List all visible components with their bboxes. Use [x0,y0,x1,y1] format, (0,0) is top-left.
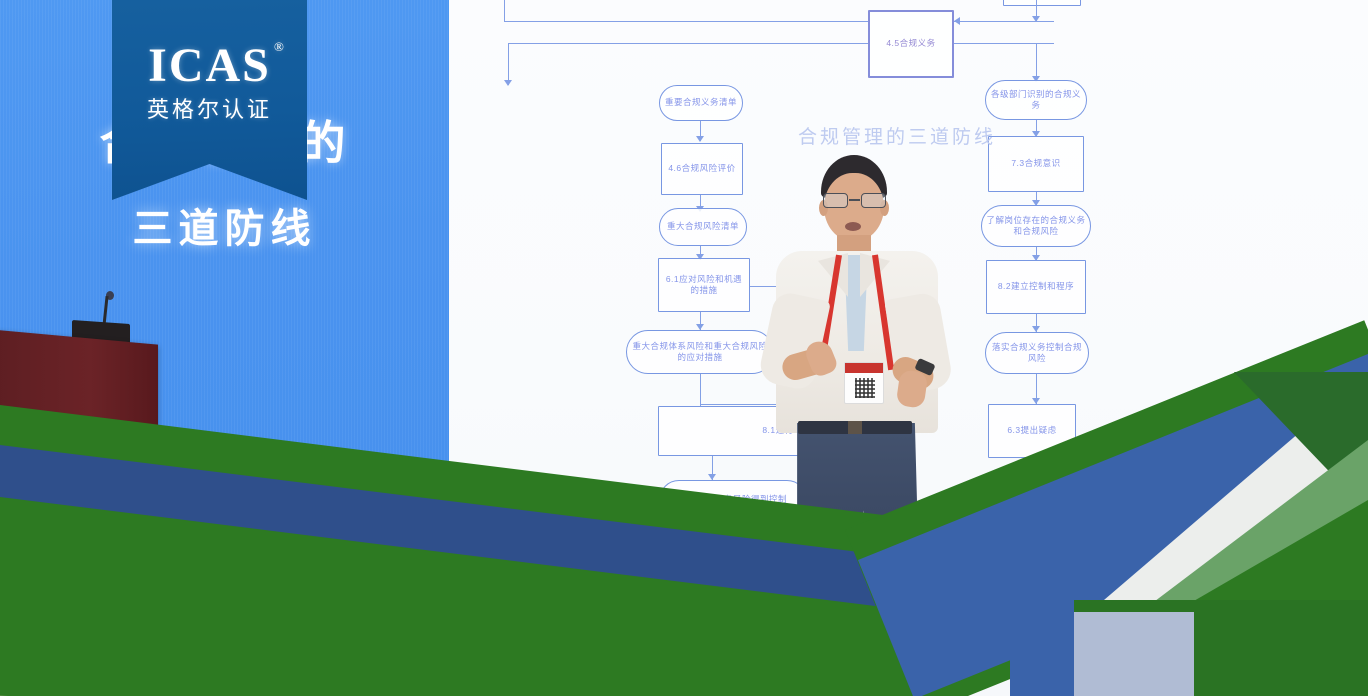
flow-node-label: 6.3提出疑虑 [1007,425,1056,436]
flow-arrowhead [504,80,512,86]
belt-buckle [848,421,862,434]
qr-code-icon [855,378,875,398]
flow-line [954,43,1054,44]
flow-node-label: 了解岗位存在的合规义务和合规风险 [986,215,1086,238]
flow-line [700,374,701,406]
flow-node-label: 4.5合规义务 [886,38,935,49]
flow-node-label: 7.3合规意识 [1011,158,1060,169]
flow-node-4-6-risk-evaluation: 4.6合规风险评价 [661,143,743,195]
decor-block-blue [1010,600,1074,696]
flow-node-8-2-controls-procedures: 8.2建立控制和程序 [986,260,1086,314]
icas-wordmark-text: ICAS [148,39,271,92]
flow-line [504,0,505,22]
flow-line [508,43,509,85]
flow-node-dept-identified-obligations: 各级部门识别的合规义务 [985,80,1087,120]
flow-node-top-stub [1003,0,1081,6]
flow-node-label: 各级部门识别的合规义务 [990,89,1082,112]
flow-node-major-risk-list: 重大合规风险清单 [659,208,747,246]
flow-node-post-obligation-knowledge: 了解岗位存在的合规义务和合规风险 [981,205,1091,247]
glasses-lens-right [861,193,886,208]
badge-header-band [845,363,883,373]
flow-node-label: 重大合规体系风险和重大合规风险的应对措施 [631,341,769,364]
flow-line [508,43,868,44]
glasses-lens-left [823,193,848,208]
flow-node-label: 6.1应对风险和机遇的措施 [663,274,745,297]
flow-line [504,21,868,22]
flow-line [954,21,1054,22]
screenshot-root: 4.5合规义务 重要合规义务清单 4.6合规风险评价 重大合规风险清单 6.1应… [0,0,1368,696]
flow-node-label: 重大合规风险清单 [667,221,739,232]
flow-node-label: 落实合规义务控制合规风险 [990,342,1084,365]
glasses-icon [822,193,887,209]
speaker-mouth [845,222,861,231]
icas-chinese-name: 英格尔认证 [112,99,307,121]
flow-node-label: 重要合规义务清单 [665,97,737,108]
flow-node-4-5-compliance-obligations: 4.5合规义务 [868,10,954,78]
flow-node-important-obligation-list: 重要合规义务清单 [659,85,743,121]
icas-wordmark: ICAS ® [148,42,271,90]
flow-node-label: 4.6合规风险评价 [668,163,735,174]
flow-node-label: 8.2建立控制和程序 [998,281,1074,292]
flow-node-7-3-compliance-awareness: 7.3合规意识 [988,136,1084,192]
registered-trademark-icon: ® [274,40,284,53]
slide-heading-three-lines-of-defense: 合规管理的三道防线 [798,122,996,149]
decor-block-lilac [1074,612,1194,696]
flow-node-implement-obligation-control: 落实合规义务控制合规风险 [985,332,1089,374]
flow-arrowhead [954,17,960,25]
flow-arrowhead [696,136,704,142]
name-badge [844,362,884,404]
glasses-bridge [849,199,860,201]
flow-node-6-1-risk-measures: 6.1应对风险和机遇的措施 [658,258,750,312]
